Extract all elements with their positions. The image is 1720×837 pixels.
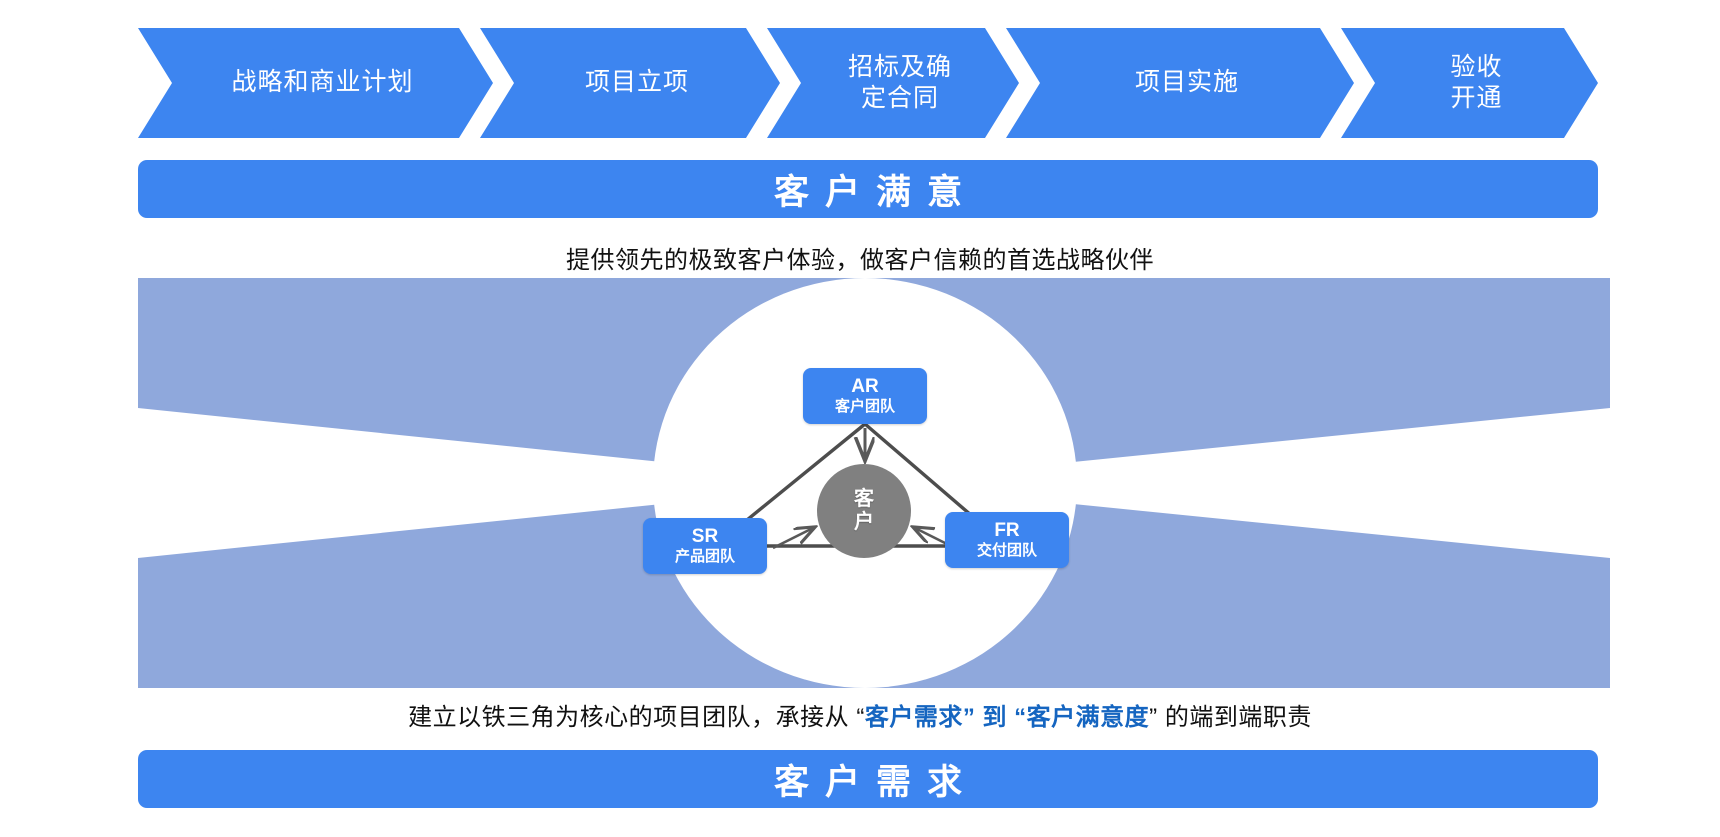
node-ar-sub: 客户团队 [835, 398, 895, 416]
process-step-2-label: 项目立项 [557, 67, 703, 98]
node-ar-code: AR [851, 376, 878, 398]
banner-bottom-label: 客户需求 [758, 754, 978, 805]
process-step-3[interactable]: 招标及确 定合同 [767, 28, 1019, 138]
node-sr-code: SR [692, 526, 718, 548]
process-step-3-label: 招标及确 定合同 [820, 52, 966, 115]
caption-bottom-prefix: 建立以铁三角为核心的项目团队，承接从 “ [408, 704, 865, 731]
process-step-4-label: 项目实施 [1107, 67, 1253, 98]
process-step-2[interactable]: 项目立项 [480, 28, 780, 138]
banner-customer-requirement: 客户需求 [138, 750, 1598, 808]
caption-bottom-suffix: ” 的端到端职责 [1149, 704, 1312, 731]
process-step-5-label: 验收 开通 [1422, 52, 1516, 115]
caption-bottom-highlight-1: 客户需求 [865, 704, 963, 731]
node-fr-code: FR [994, 520, 1019, 542]
process-step-1[interactable]: 战略和商业计划 [138, 28, 493, 138]
iron-triangle-diagram: 客 户 AR 客户团队 SR 产品团队 FR 交付团队 [655, 380, 1075, 630]
diagram-canvas: 战略和商业计划 项目立项 招标及确 定合同 项目实施 验收 开通 客户满意 提供… [0, 0, 1720, 837]
caption-bottom-highlight-2: 客户满意度 [1027, 704, 1150, 731]
process-chevron-row: 战略和商业计划 项目立项 招标及确 定合同 项目实施 验收 开通 [138, 28, 1598, 138]
node-ar[interactable]: AR 客户团队 [803, 368, 927, 424]
node-sr[interactable]: SR 产品团队 [643, 518, 767, 574]
caption-top-text: 提供领先的极致客户体验，做客户信赖的首选战略伙伴 [566, 247, 1154, 274]
center-label-line1: 客 [854, 488, 874, 511]
center-label-line2: 户 [854, 511, 874, 534]
node-fr-sub: 交付团队 [977, 542, 1037, 560]
banner-top-label: 客户满意 [758, 164, 978, 215]
node-sr-sub: 产品团队 [675, 548, 735, 566]
process-step-4[interactable]: 项目实施 [1006, 28, 1354, 138]
node-fr[interactable]: FR 交付团队 [945, 512, 1069, 568]
caption-bottom-middle: ” 到 “ [963, 704, 1027, 731]
caption-top: 提供领先的极致客户体验，做客户信赖的首选战略伙伴 [0, 240, 1720, 275]
center-customer-circle: 客 户 [817, 464, 911, 558]
process-step-1-label: 战略和商业计划 [203, 67, 427, 98]
caption-bottom: 建立以铁三角为核心的项目团队，承接从 “客户需求” 到 “客户满意度” 的端到端… [0, 697, 1720, 732]
banner-customer-satisfaction: 客户满意 [138, 160, 1598, 218]
process-step-5[interactable]: 验收 开通 [1341, 28, 1598, 138]
